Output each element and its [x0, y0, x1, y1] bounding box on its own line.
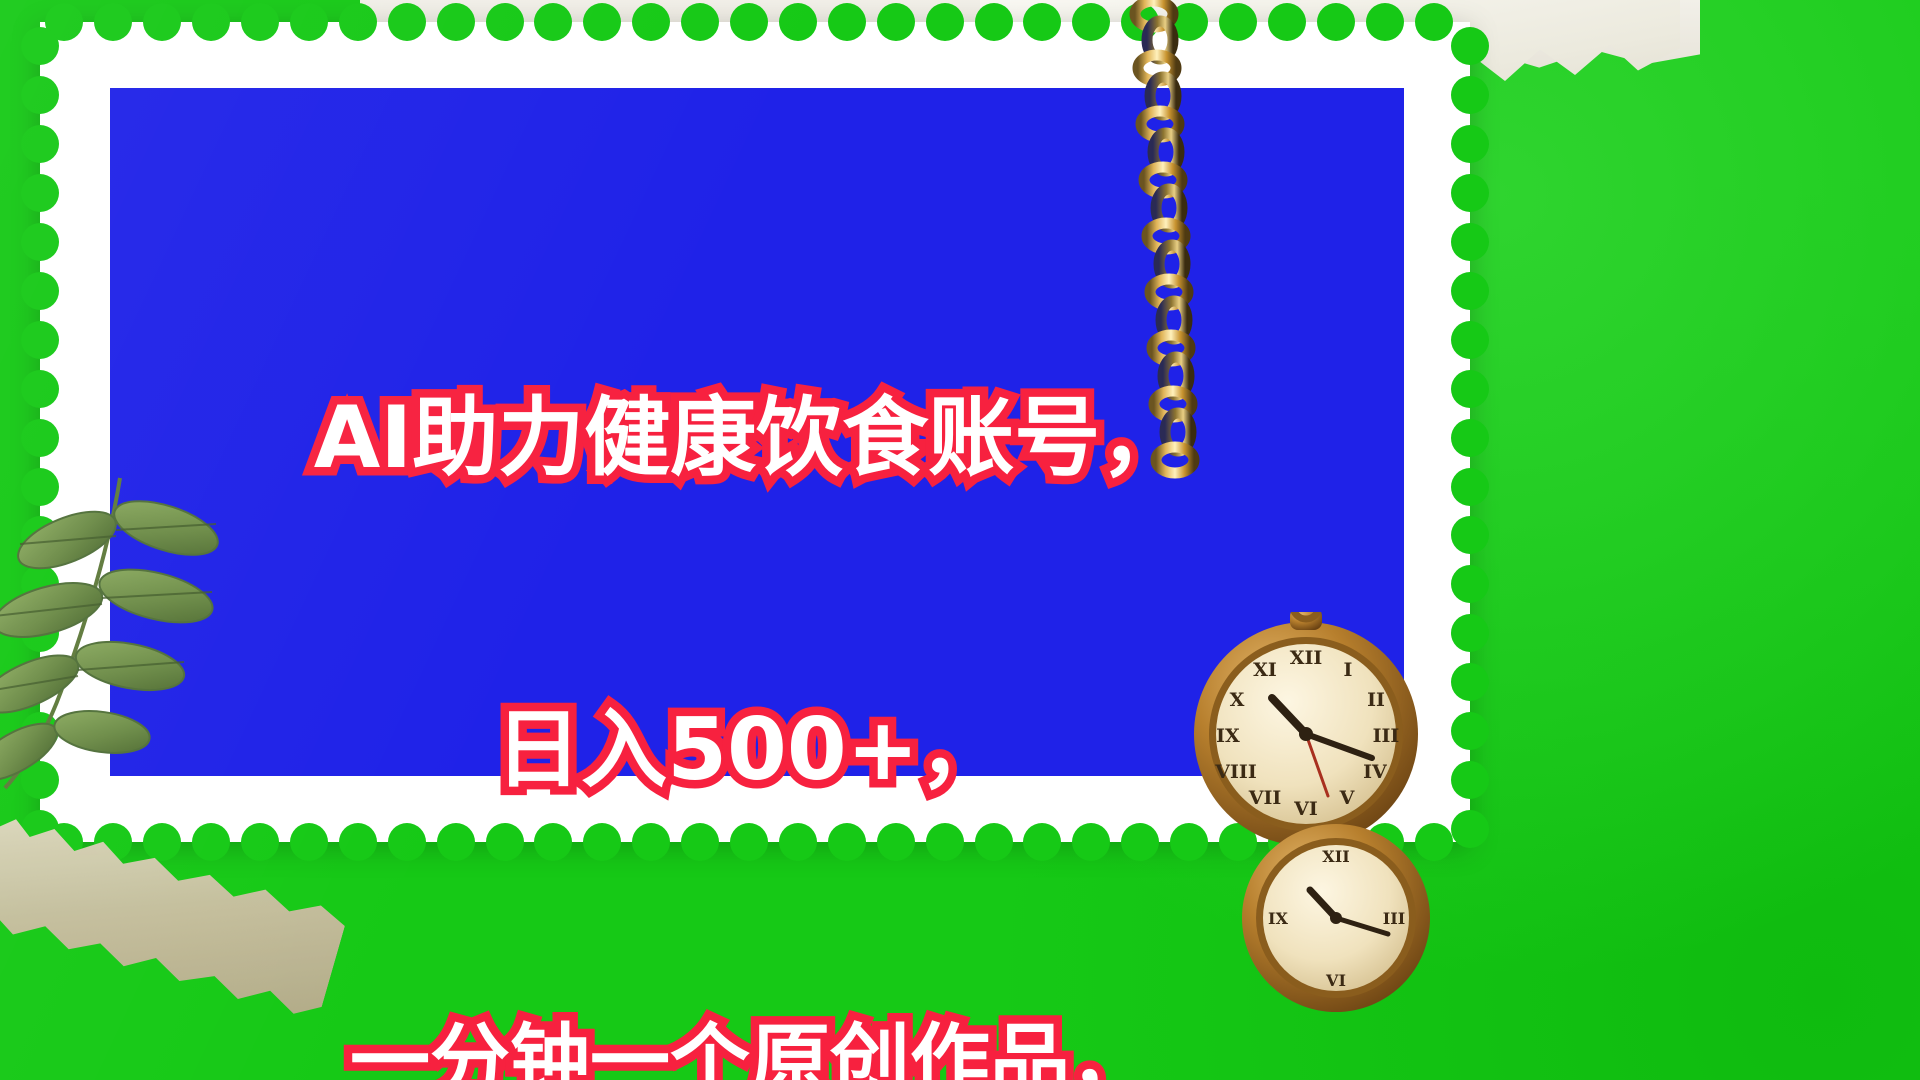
- svg-text:VII: VII: [1248, 787, 1282, 809]
- stamp-perforation-notch: [1451, 174, 1489, 212]
- stamp-perforation-notch: [1451, 761, 1489, 799]
- svg-text:IV: IV: [1363, 761, 1388, 783]
- green-leaf-sprig-icon: [0, 470, 300, 800]
- stamp-perforation-notch: [1451, 125, 1489, 163]
- thumbnail-canvas: XII I II III IV V VI VII VIII IX X XI: [0, 0, 1920, 1080]
- vintage-pocket-watch-secondary-icon: XII III VI IX: [1236, 818, 1436, 1018]
- svg-text:X: X: [1230, 689, 1245, 711]
- stamp-perforation-notch: [1451, 614, 1489, 652]
- svg-text:VI: VI: [1325, 971, 1346, 990]
- svg-text:II: II: [1367, 689, 1385, 711]
- svg-text:III: III: [1383, 909, 1405, 928]
- svg-text:III: III: [1373, 725, 1400, 747]
- stamp-perforation-notch: [1451, 419, 1489, 457]
- stamp-perforation-notch: [1451, 712, 1489, 750]
- stamp-perforation-notch: [1451, 468, 1489, 506]
- svg-text:I: I: [1344, 659, 1353, 681]
- stamp-perforation-notch: [1451, 810, 1489, 848]
- svg-text:VIII: VIII: [1214, 761, 1257, 783]
- svg-text:IX: IX: [1268, 909, 1288, 928]
- svg-text:XII: XII: [1290, 647, 1323, 669]
- stamp-perforation-notch: [1451, 272, 1489, 310]
- vintage-pocket-watch-icon: XII I II III IV V VI VII VIII IX X XI: [1186, 612, 1426, 852]
- stamp-perforation-notch: [1451, 321, 1489, 359]
- gold-chain-icon: [1108, 0, 1218, 560]
- svg-text:XI: XI: [1253, 659, 1277, 681]
- stamp-perforation-notch: [1451, 370, 1489, 408]
- stamp-perforation-notch: [1451, 223, 1489, 261]
- svg-text:VI: VI: [1293, 798, 1318, 820]
- svg-text:IX: IX: [1216, 725, 1240, 747]
- svg-text:XII: XII: [1322, 847, 1349, 866]
- stamp-perforation-notch: [1451, 663, 1489, 701]
- svg-text:V: V: [1339, 787, 1356, 809]
